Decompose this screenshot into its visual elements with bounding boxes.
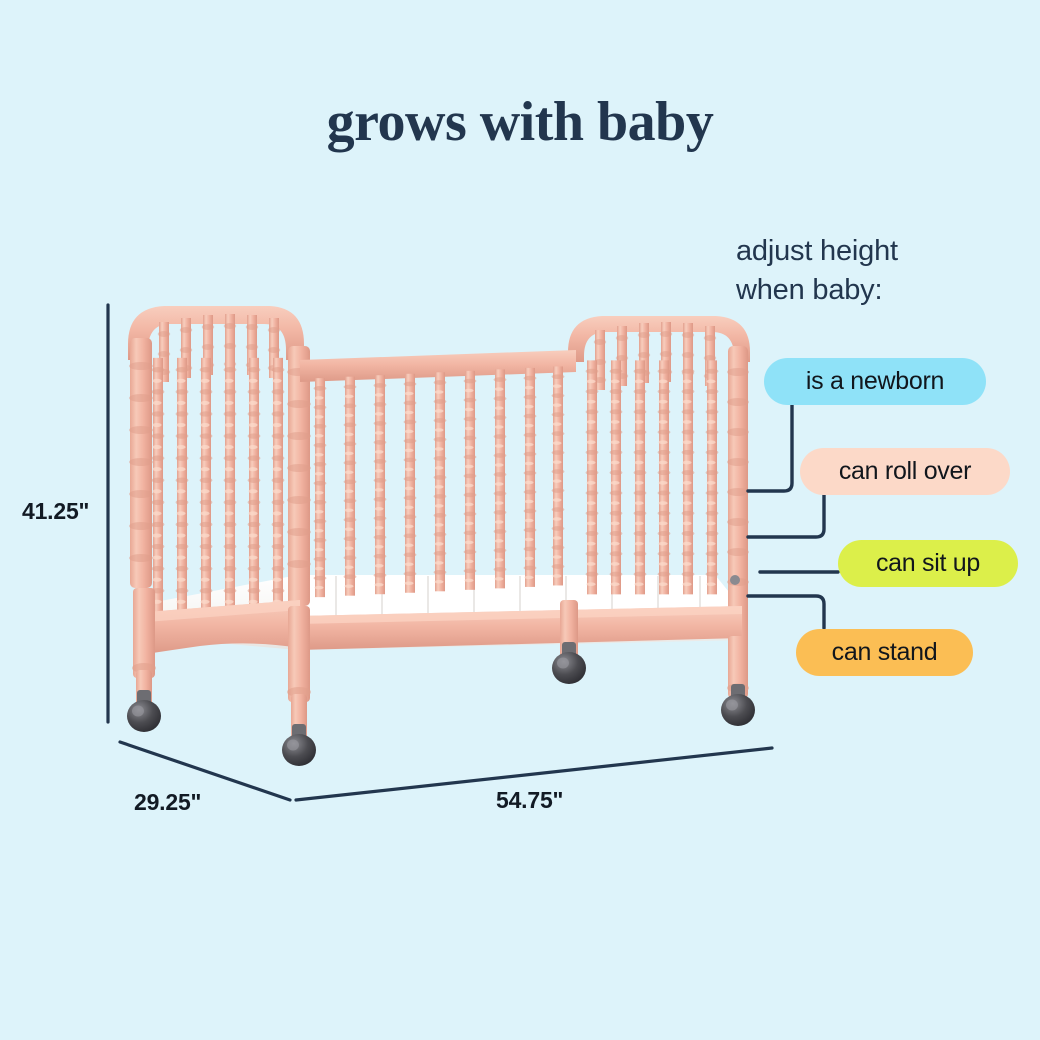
depth-dimension-label: 29.25" (134, 789, 201, 816)
crib-illustration (0, 0, 1040, 1040)
crib-near-headboard (128, 306, 311, 613)
width-dimension-label: 54.75" (496, 787, 563, 814)
caster-wheel (721, 684, 755, 726)
caster-wheel (127, 690, 161, 732)
height-dimension-label: 41.25" (22, 498, 89, 525)
callout-pill-sit-up-label: can sit up (876, 549, 980, 578)
caster-wheel (552, 642, 586, 684)
callout-pill-roll-over[interactable]: can roll over (800, 448, 1010, 495)
callout-pill-roll-over-label: can roll over (839, 457, 971, 486)
callout-pill-stand-label: can stand (832, 638, 938, 667)
infographic-canvas: grows with baby adjust height when baby: (0, 0, 1040, 1040)
callout-pill-sit-up[interactable]: can sit up (838, 540, 1018, 587)
callout-pill-newborn-label: is a newborn (806, 367, 944, 396)
caster-wheel (282, 724, 316, 766)
callout-pill-stand[interactable]: can stand (796, 629, 973, 676)
callout-pill-newborn[interactable]: is a newborn (764, 358, 986, 405)
